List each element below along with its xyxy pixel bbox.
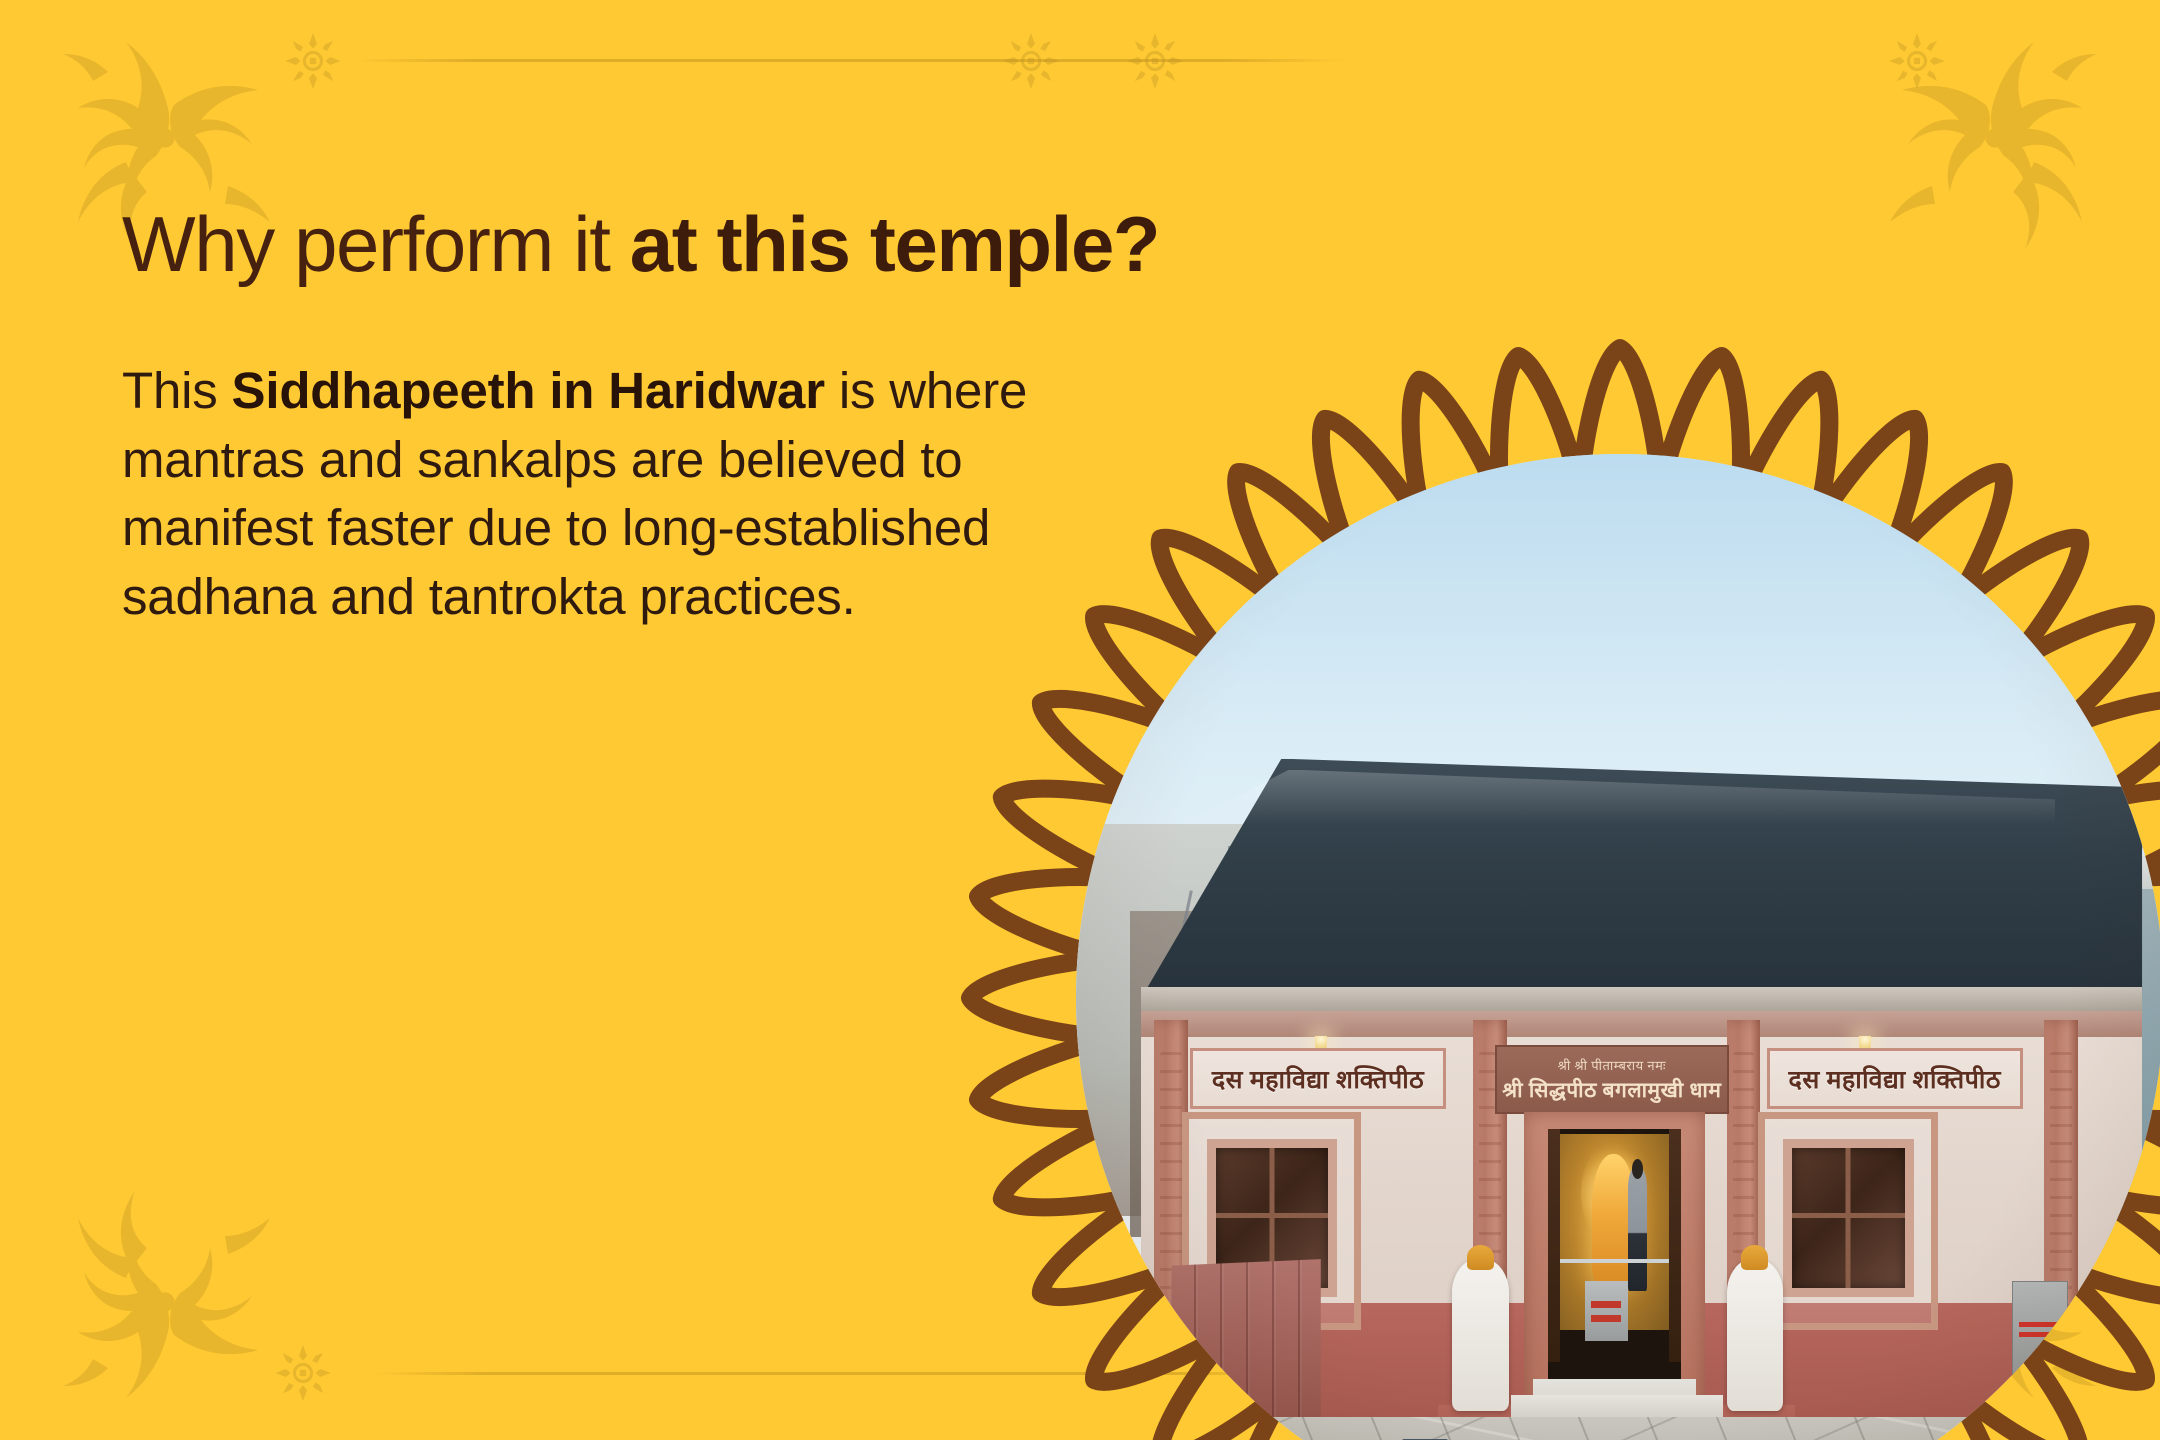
door-leaf-right — [1669, 1129, 1681, 1363]
stone-paving — [1076, 1417, 2160, 1440]
devotee-head — [1632, 1159, 1643, 1179]
plaque-left: दस महाविद्या शक्तिपीठ — [1190, 1048, 1446, 1109]
headline-regular: Why perform it — [122, 200, 630, 288]
marble-statue-left — [1452, 1259, 1509, 1411]
plaque-right: दस महाविद्या शक्तिपीठ — [1767, 1048, 2023, 1109]
paragraph-lead: This — [122, 362, 232, 419]
poster-canvas: Why perform it at this temple? This Sidd… — [0, 0, 2160, 1440]
sanctum-donation-box — [1585, 1281, 1627, 1341]
page-title: Why perform it at this temple? — [122, 205, 1132, 283]
plaque-center-line2: श्री सिद्धपीठ बगलामुखी धाम — [1502, 1076, 1721, 1104]
devotee-figure — [1628, 1169, 1647, 1290]
sun-motif-top-4 — [1886, 30, 1948, 92]
facade-cornice — [1141, 1011, 2142, 1037]
photo-medallion: दस महाविद्या शक्तिपीठ श्री श्री पीताम्बर… — [960, 338, 2160, 1440]
window-right — [1783, 1139, 1914, 1297]
sun-motif-top-1 — [282, 30, 344, 92]
text-block: Why perform it at this temple? This Sidd… — [122, 205, 1132, 631]
plaque-center: श्री श्री पीताम्बराय नमः श्री सिद्धपीठ ब… — [1495, 1045, 1729, 1115]
stacked-metal-panels — [1168, 1259, 1320, 1422]
marble-statue-right — [1727, 1259, 1784, 1411]
sun-motif-bottom-1 — [272, 1342, 334, 1404]
sanctum-opening — [1548, 1129, 1681, 1401]
paragraph-highlight: Siddhapeeth in Haridwar — [232, 362, 825, 419]
door-leaf-left — [1548, 1129, 1560, 1363]
body-paragraph: This Siddhapeeth in Haridwar is where ma… — [122, 357, 1077, 631]
temple-photo: दस महाविद्या शक्तिपीठ श्री श्री पीताम्बर… — [1076, 454, 2160, 1440]
divider-line-top — [355, 59, 1345, 62]
headline-bold: at this temple? — [630, 200, 1159, 288]
sun-motif-top-2 — [1000, 30, 1062, 92]
plaque-center-line1: श्री श्री पीताम्बराय नमः — [1558, 1056, 1666, 1074]
donation-box — [2012, 1281, 2069, 1384]
sun-motif-top-3 — [1124, 30, 1186, 92]
sanctum-railing — [1556, 1259, 1673, 1263]
